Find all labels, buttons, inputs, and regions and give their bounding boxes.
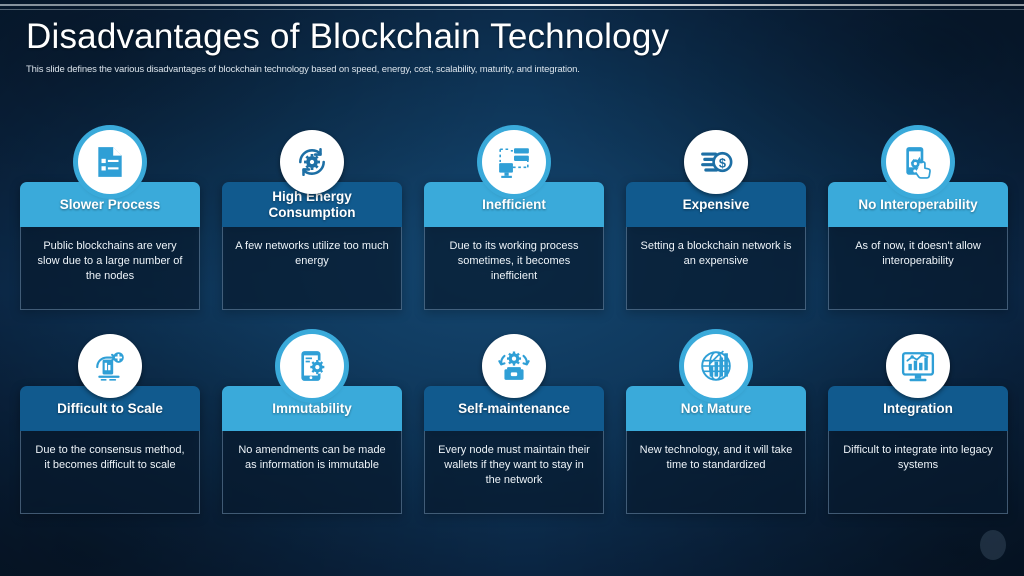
disadvantage-card[interactable]: Difficult to ScaleDue to the consensus m… <box>20 386 200 514</box>
card-title: Not Mature <box>681 401 752 417</box>
network-servers-icon <box>482 130 546 194</box>
disadvantage-card[interactable]: High Energy ConsumptionA few networks ut… <box>222 182 402 310</box>
card-description: Every node must maintain their wallets i… <box>436 443 592 488</box>
card-body: A few networks utilize too much energy <box>222 227 402 310</box>
card-description: No amendments can be made as information… <box>234 443 390 473</box>
card-body: Due to its working process sometimes, it… <box>424 227 604 310</box>
card-body: Setting a blockchain network is an expen… <box>626 227 806 310</box>
disadvantage-card[interactable]: Self-maintenanceEvery node must maintain… <box>424 386 604 514</box>
disadvantage-card[interactable]: Not MatureNew technology, and it will ta… <box>626 386 806 514</box>
card-body: No amendments can be made as information… <box>222 431 402 514</box>
disadvantage-card[interactable]: ImmutabilityNo amendments can be made as… <box>222 386 402 514</box>
card-body: Due to the consensus method, it becomes … <box>20 431 200 514</box>
page-subtitle: This slide defines the various disadvant… <box>26 64 1006 75</box>
card-description: Setting a blockchain network is an expen… <box>638 239 794 269</box>
top-accent-rule-primary <box>0 4 1024 6</box>
card-title: Difficult to Scale <box>57 401 163 417</box>
card-description: Difficult to integrate into legacy syste… <box>840 443 996 473</box>
card-title: Integration <box>883 401 953 417</box>
disadvantage-card[interactable]: No InteroperabilityAs of now, it doesn't… <box>828 182 1008 310</box>
card-title: No Interoperability <box>858 197 977 213</box>
mobile-gear-icon <box>280 334 344 398</box>
top-accent-rule-secondary <box>0 9 1024 10</box>
card-description: New technology, and it will take time to… <box>638 443 794 473</box>
card-body: Difficult to integrate into legacy syste… <box>828 431 1008 514</box>
card-title: Slower Process <box>60 197 161 213</box>
card-row-1: Slower ProcessPublic blockchains are ver… <box>20 130 1004 335</box>
slide-header: Disadvantages of Blockchain Technology T… <box>26 18 1006 75</box>
disadvantage-card[interactable]: Slower ProcessPublic blockchains are ver… <box>20 182 200 310</box>
document-list-icon <box>78 130 142 194</box>
page-title: Disadvantages of Blockchain Technology <box>26 18 1006 55</box>
card-title: Immutability <box>272 401 352 417</box>
disadvantage-card[interactable]: IntegrationDifficult to integrate into l… <box>828 386 1008 514</box>
money-coins-icon: $ <box>684 130 748 194</box>
card-body: As of now, it doesn't allow interoperabi… <box>828 227 1008 310</box>
card-body: New technology, and it will take time to… <box>626 431 806 514</box>
mobile-touch-icon <box>886 130 950 194</box>
scale-growth-icon <box>78 334 142 398</box>
card-title: Expensive <box>683 197 750 213</box>
card-title: Self-maintenance <box>458 401 570 417</box>
disadvantage-card[interactable]: InefficientDue to its working process so… <box>424 182 604 310</box>
card-description: A few networks utilize too much energy <box>234 239 390 269</box>
slide-canvas: Disadvantages of Blockchain Technology T… <box>0 0 1024 576</box>
disadvantage-card[interactable]: ExpensiveSetting a blockchain network is… <box>626 182 806 310</box>
globe-chart-icon <box>684 334 748 398</box>
card-description: Public blockchains are very slow due to … <box>32 239 188 284</box>
card-title: Inefficient <box>482 197 546 213</box>
svg-text:$: $ <box>719 155 726 170</box>
wallet-gear-icon <box>482 334 546 398</box>
card-description: Due to the consensus method, it becomes … <box>32 443 188 473</box>
card-description: Due to its working process sometimes, it… <box>436 239 592 284</box>
card-body: Every node must maintain their wallets i… <box>424 431 604 514</box>
monitor-analytics-icon <box>886 334 950 398</box>
card-description: As of now, it doesn't allow interoperabi… <box>840 239 996 269</box>
card-body: Public blockchains are very slow due to … <box>20 227 200 310</box>
gear-refresh-icon <box>280 130 344 194</box>
card-row-2: Difficult to ScaleDue to the consensus m… <box>20 334 1004 539</box>
